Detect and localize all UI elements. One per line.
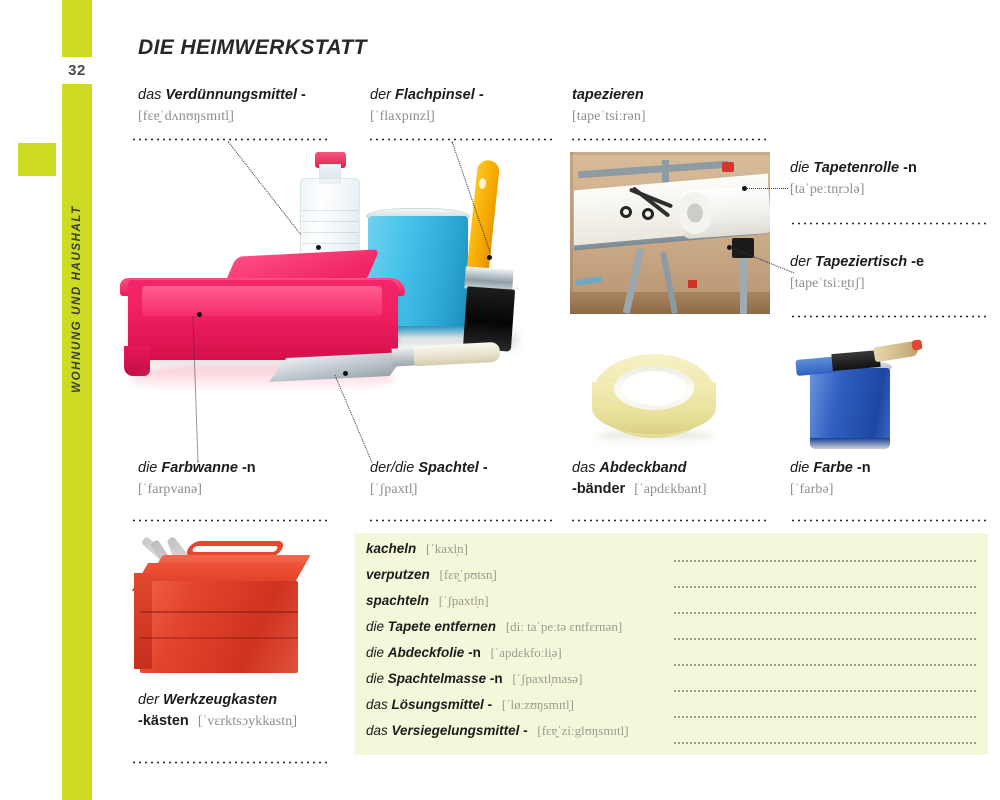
leader-dot-flachpinsel — [487, 255, 492, 260]
dotted-rule — [790, 519, 988, 522]
term-plural: -kästen — [138, 713, 189, 729]
term-plural: - — [301, 87, 306, 103]
term-word: der/die Spachtel - — [370, 458, 570, 479]
exercise-word: kacheln — [366, 541, 420, 556]
exercise-plural: - — [488, 697, 493, 712]
exercise-ipa: [ˈkaxl̩n] — [426, 541, 468, 556]
term-ipa: [fɛɐ̯ˈdʌnʊŋsmɪtl̩] — [138, 106, 368, 127]
term-headword: Verdünnungsmittel — [165, 87, 297, 103]
term-ipa: [ˈapdɛkbant] — [634, 482, 706, 497]
exercise-article: die — [366, 645, 384, 660]
dotted-rule — [368, 138, 556, 141]
exercise-word: das Lösungsmittel - — [366, 697, 496, 712]
term-tapetenrolle: die Tapetenrolle -n [taˈpeːtn̩rɔlə] — [790, 158, 990, 200]
term-plural: - — [483, 460, 488, 476]
paint-pot — [810, 368, 890, 446]
scissors-handle — [620, 206, 632, 218]
brush-handle-tip — [911, 339, 922, 350]
dotted-rule — [368, 519, 556, 522]
exercise-box: kacheln [ˈkaxl̩n] verputzen [fɛɐ̯ˈpʊtsn̩… — [355, 533, 988, 755]
dotted-rule — [131, 519, 331, 522]
toolbox-seam — [140, 637, 298, 639]
term-ipa: [ˈʃpaxtl̩] — [370, 479, 570, 500]
term-ipa: [ˈvɛrktsɔykkastn̩] — [198, 714, 297, 729]
term-headword: Spachtel — [418, 460, 478, 476]
term-headword: Flachpinsel — [395, 87, 475, 103]
answer-line[interactable] — [673, 612, 976, 614]
term-plural: -n — [857, 460, 871, 476]
toolbox-side — [134, 573, 152, 669]
photo-toolbox — [130, 533, 340, 688]
answer-line[interactable] — [673, 716, 976, 718]
answer-line[interactable] — [673, 664, 976, 666]
term-word: die Farbwanne -n — [138, 458, 338, 479]
answer-line[interactable] — [673, 690, 976, 692]
term-word: die Tapetenrolle -n — [790, 158, 990, 179]
exercise-plural: - — [523, 723, 528, 738]
leader-line-tapetenrolle — [746, 188, 788, 189]
term-headword: Abdeckband — [599, 460, 686, 476]
photo-masking-tape — [578, 338, 768, 456]
exercise-ipa: [ˈapdɛkfoːli̩ə] — [491, 645, 562, 660]
term-ipa: [ˈflaxpɪnzl̩] — [370, 106, 560, 127]
term-article: die — [790, 160, 809, 176]
exercise-row: das Versiegelungsmittel - [fɛɐ̯ˈziːglʊŋs… — [366, 723, 629, 749]
term-headword: Tapetenrolle — [813, 160, 899, 176]
dotted-rule — [790, 315, 988, 318]
exercise-article: das — [366, 723, 388, 738]
toolbox-seam — [140, 611, 298, 613]
exercise-headword: verputzen — [366, 567, 430, 582]
exercise-word: die Tapete entfernen — [366, 619, 500, 634]
term-article: das — [572, 460, 595, 476]
term-word: der Tapeziertisch -e — [790, 252, 990, 273]
term-ipa: [tapeˈtsiːrən] — [572, 106, 772, 127]
term-article: der — [138, 692, 159, 708]
term-farbwanne: die Farbwanne -n [ˈfarpvanə] — [138, 458, 338, 500]
exercise-headword: spachteln — [366, 593, 429, 608]
term-article: die — [790, 460, 809, 476]
exercise-ipa: [fɛɐ̯ˈziːglʊŋsmɪtl̩] — [537, 723, 628, 738]
toolbox-body — [140, 581, 298, 673]
exercise-ipa: [ˈʃpaxtl̩masə] — [512, 671, 582, 686]
spatula-handle — [414, 342, 501, 366]
term-word: die Farbe -n — [790, 458, 980, 479]
leader-dot-farbwanne — [197, 312, 202, 317]
sidebar-chapter-label-text: WOHNUNG UND HAUSHALT — [71, 205, 83, 393]
dotted-rule — [570, 519, 770, 522]
term-article: der — [790, 254, 811, 270]
dotted-rule — [131, 138, 331, 141]
exercise-word: verputzen — [366, 567, 434, 582]
term-word: tapezieren — [572, 85, 772, 106]
photo-paint-tray-scene — [120, 150, 560, 450]
term-word-second-line: -bänder [ˈapdɛkbant] — [572, 479, 787, 500]
term-ipa: [tapeˈtsiːɐ̯tɪʃ] — [790, 273, 990, 294]
exercise-word: das Versiegelungsmittel - — [366, 723, 531, 738]
term-article: der — [370, 87, 391, 103]
paint-pot-base — [810, 438, 890, 449]
term-plural: - — [479, 87, 484, 103]
exercise-row: kacheln [ˈkaxl̩n] — [366, 541, 468, 567]
sidebar-accent-bar-top — [62, 0, 92, 57]
photo-paint-pot — [788, 332, 968, 458]
term-article: das — [138, 87, 161, 103]
leader-dot-spachtel — [343, 371, 348, 376]
term-headword: Farbe — [813, 460, 853, 476]
answer-line[interactable] — [673, 638, 976, 640]
term-tapeziertisch: der Tapeziertisch -e [tapeˈtsiːɐ̯tɪʃ] — [790, 252, 990, 294]
leader-dot-verduennungsmittel — [316, 245, 321, 250]
exercise-ipa: [ˈʃpaxtl̩n] — [439, 593, 489, 608]
term-word: das Abdeckband — [572, 458, 787, 479]
term-headword: Tapeziertisch — [815, 254, 907, 270]
term-abdeckband: das Abdeckband -bänder [ˈapdɛkbant] — [572, 458, 787, 500]
tape-roll-core-inner — [622, 371, 686, 405]
dotted-rule — [790, 222, 988, 225]
exercise-word: die Abdeckfolie -n — [366, 645, 485, 660]
exercise-row: verputzen [fɛɐ̯ˈpʊtsn̩] — [366, 567, 497, 593]
term-word: der Flachpinsel - — [370, 85, 560, 106]
term-farbe: die Farbe -n [ˈfarbə] — [790, 458, 980, 500]
term-spachtel: der/die Spachtel - [ˈʃpaxtl̩] — [370, 458, 570, 500]
scissors-handle — [642, 208, 654, 220]
answer-line[interactable] — [673, 560, 976, 562]
term-headword: Werkzeugkasten — [163, 692, 277, 708]
exercise-article: die — [366, 671, 384, 686]
term-article: der/die — [370, 460, 414, 476]
term-verduennungsmittel: das Verdünnungsmittel - [fɛɐ̯ˈdʌnʊŋsmɪtl… — [138, 85, 368, 127]
sidebar-chapter-tab[interactable] — [18, 143, 56, 176]
term-plural: -n — [242, 460, 256, 476]
term-ipa: [taˈpeːtn̩rɔlə] — [790, 179, 990, 200]
exercise-word: die Spachtelmasse -n — [366, 671, 506, 686]
term-plural: -bänder — [572, 481, 625, 497]
exercise-article: das — [366, 697, 388, 712]
term-word: das Verdünnungsmittel - — [138, 85, 368, 106]
answer-line[interactable] — [673, 586, 976, 588]
term-ipa: [ˈfarbə] — [790, 479, 980, 500]
dotted-rule — [131, 761, 331, 764]
textbook-page: 32 WOHNUNG UND HAUSHALT DIE HEIMWERKSTAT… — [0, 0, 1000, 800]
exercise-row: das Lösungsmittel - [ˈløːzʊŋsmɪtl̩] — [366, 697, 574, 723]
term-headword: Farbwanne — [161, 460, 238, 476]
term-tapezieren: tapezieren [tapeˈtsiːrən] — [572, 85, 772, 127]
answer-line[interactable] — [673, 742, 976, 744]
exercise-ipa: [diː taˈpeːtə ɛntfɛrnən] — [506, 619, 622, 634]
exercise-row: spachteln [ˈʃpaxtl̩n] — [366, 593, 489, 619]
term-word-second-line: -kästen [ˈvɛrktsɔykkastn̩] — [138, 711, 353, 732]
page-title: DIE HEIMWERKSTATT — [138, 36, 367, 60]
term-flachpinsel: der Flachpinsel - [ˈflaxpɪnzl̩] — [370, 85, 560, 127]
exercise-headword: Spachtelmasse — [388, 671, 486, 686]
floor-marker — [688, 280, 697, 288]
exercise-word: spachteln — [366, 593, 433, 608]
exercise-headword: Versiegelungsmittel — [392, 723, 520, 738]
term-article: die — [138, 460, 157, 476]
exercise-row: die Tapete entfernen [diː taˈpeːtə ɛntfɛ… — [366, 619, 622, 645]
exercise-headword: Tapete entfernen — [388, 619, 496, 634]
term-headword: tapezieren — [572, 87, 644, 103]
exercise-article: die — [366, 619, 384, 634]
term-plural: -e — [911, 254, 924, 270]
dotted-rule — [570, 138, 770, 141]
scaffold-knob — [722, 162, 734, 172]
term-werkzeugkasten: der Werkzeugkasten -kästen [ˈvɛrktsɔykka… — [138, 690, 353, 732]
term-plural: -n — [903, 160, 917, 176]
exercise-headword: kacheln — [366, 541, 416, 556]
exercise-row: die Spachtelmasse -n [ˈʃpaxtl̩masə] — [366, 671, 582, 697]
term-ipa: [ˈfarpvanə] — [138, 479, 338, 500]
exercise-headword: Lösungsmittel — [392, 697, 484, 712]
exercise-ipa: [ˈløːzʊŋsmɪtl̩] — [502, 697, 574, 712]
exercise-row: die Abdeckfolie -n [ˈapdɛkfoːli̩ə] — [366, 645, 562, 671]
table-leg — [740, 256, 747, 314]
page-number: 32 — [58, 60, 96, 82]
paint-tray-well — [142, 286, 382, 316]
sidebar-chapter-label: WOHNUNG UND HAUSHALT — [62, 84, 92, 514]
exercise-plural: -n — [468, 645, 481, 660]
exercise-ipa: [fɛɐ̯ˈpʊtsn̩] — [440, 567, 497, 582]
exercise-headword: Abdeckfolie — [388, 645, 465, 660]
exercise-plural: -n — [490, 671, 503, 686]
term-word: der Werkzeugkasten — [138, 690, 353, 711]
photo-wallpaper-table — [570, 152, 770, 314]
